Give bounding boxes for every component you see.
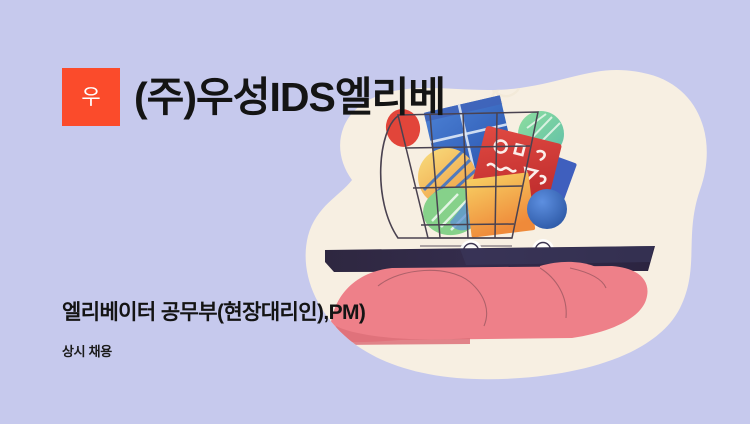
company-title: (주)우성IDS엘리베 xyxy=(134,77,445,118)
job-posting-banner[interactable]: 우 (주)우성IDS엘리베 엘리베이터 공무부(현장대리인),PM) 상시 채용 xyxy=(0,0,750,424)
hiring-status-badge: 상시 채용 xyxy=(62,341,112,360)
gift-ribbon-bow xyxy=(488,70,519,104)
cart-wheel-left xyxy=(460,240,482,262)
ball-yellow-striped xyxy=(418,148,476,206)
hand-illustration xyxy=(330,262,648,345)
cart-wheel-right xyxy=(532,239,554,261)
company-header: 우 (주)우성IDS엘리베 xyxy=(62,68,445,126)
ball-green-striped xyxy=(518,111,564,157)
ball-green-lime xyxy=(420,183,484,239)
shopping-cart-frame xyxy=(381,112,538,246)
platform-bar xyxy=(325,246,655,272)
gift-box-red-squiggle xyxy=(472,125,562,202)
illustration xyxy=(0,0,750,424)
company-logo-badge: 우 xyxy=(62,68,120,126)
ball-blue xyxy=(527,189,567,229)
gift-box-orange xyxy=(465,172,536,237)
gift-box-blue-small xyxy=(505,144,577,213)
job-title: 엘리베이터 공무부(현장대리인),PM) xyxy=(62,296,365,326)
